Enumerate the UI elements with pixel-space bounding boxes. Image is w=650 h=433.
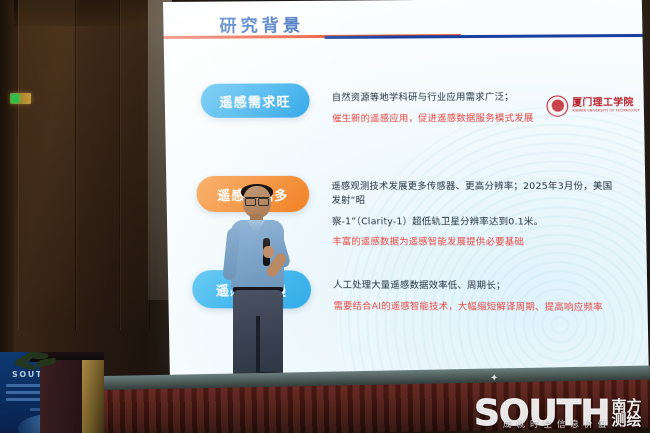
decorative-plant xyxy=(14,352,60,374)
glasses-icon xyxy=(245,197,269,203)
block-line-highlight: 需要结合AI的遥感智能技术，大幅缩短解译周期、提高响应频率 xyxy=(333,300,631,315)
slide-title: 研究背景 xyxy=(219,11,304,37)
block-line: 自然资源等地学科研与行业应用需求广泛； xyxy=(332,90,594,105)
wall-panel xyxy=(18,0,76,330)
block-line: 人工处理大量遥感数据效率低、周期长； xyxy=(333,279,631,294)
wall-panel xyxy=(76,0,120,330)
slide-block-1: 遥感需求旺 自然资源等地学科研与行业应用需求广泛； 催生新的遥感应用，促进遥感数… xyxy=(201,82,595,126)
podium-gold-panel xyxy=(82,360,104,433)
wall-pillar-left xyxy=(0,0,14,356)
block-line-highlight: 丰富的遥感数据为遥感智能发展提供必要基础 xyxy=(332,236,621,251)
block-line-highlight: 催生新的遥感应用，促进遥感数据服务模式发展 xyxy=(332,111,594,126)
block-line: 察-1”（Clarity-1）超低轨卫星分辨率达到0.1米。 xyxy=(332,215,621,229)
block-line: 遥感观测技术发展更多传感器、更高分辨率；2025年3月份，美国发射“昭 xyxy=(331,180,621,208)
exit-sign-icon xyxy=(10,93,31,104)
block-label-pill-1: 遥感需求旺 xyxy=(201,83,310,118)
screenshot-root: 研究背景 厦门理工学院 XIAMEN UNIVERSITY OF TECHNOL… xyxy=(0,0,650,433)
presenter xyxy=(205,186,305,392)
presenter-leg-gap xyxy=(256,316,260,378)
presenter-hand xyxy=(263,246,274,258)
wall-panel xyxy=(120,0,150,330)
